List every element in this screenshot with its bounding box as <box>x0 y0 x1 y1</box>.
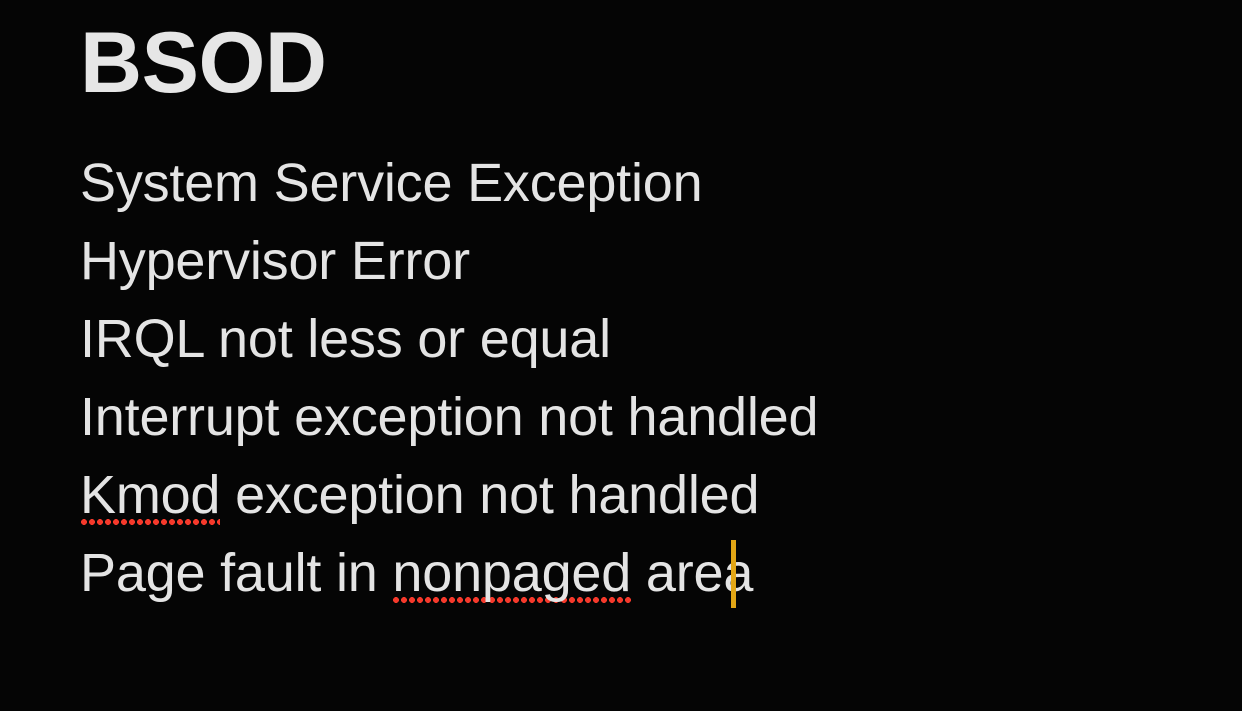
document-line: Hypervisor Error <box>80 222 1180 300</box>
document-line: Kmod exception not handled <box>80 456 1180 534</box>
text-run: System Service Exception <box>80 153 702 213</box>
document-line: Interrupt exception not handled <box>80 378 1180 456</box>
document-line: IRQL not less or equal <box>80 300 1180 378</box>
document-line: System Service Exception <box>80 144 1180 222</box>
text-run: Page fault in <box>80 543 392 603</box>
page-title: BSOD <box>80 20 326 106</box>
document-text-body[interactable]: System Service ExceptionHypervisor Error… <box>80 144 1180 612</box>
text-run: Hypervisor Error <box>80 231 470 291</box>
text-caret <box>731 540 736 608</box>
document-line: Page fault in nonpaged area <box>80 534 1180 612</box>
text-run: Interrupt exception not handled <box>80 387 818 447</box>
misspelled-word[interactable]: Kmod <box>80 465 220 527</box>
text-run: IRQL not less or equal <box>80 309 611 369</box>
misspelled-word[interactable]: nonpaged <box>392 543 631 605</box>
document-canvas: BSOD System Service ExceptionHypervisor … <box>0 0 1242 711</box>
text-run: exception not handled <box>220 465 759 525</box>
